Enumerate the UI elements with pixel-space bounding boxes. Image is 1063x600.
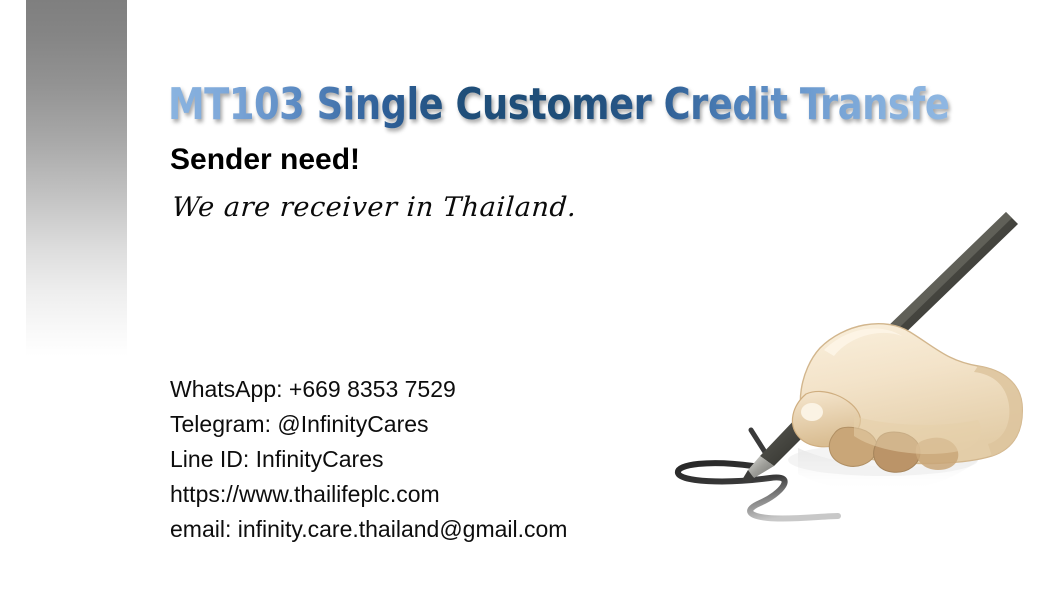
contact-line-whatsapp: WhatsApp: +669 8353 7529 [170, 372, 690, 407]
heading-sender-need: Sender need! [170, 143, 360, 177]
hand-writing-pen-illustration [648, 198, 1058, 538]
contact-line-website[interactable]: https://www.thailifeplc.com [170, 477, 690, 512]
contact-line-lineid: Line ID: InfinityCares [170, 442, 690, 477]
left-gradient-bar [26, 0, 127, 356]
contact-line-telegram: Telegram: @InfinityCares [170, 407, 690, 442]
page-title: MT103 Single Customer Credit Transfer [168, 79, 949, 131]
script-subtitle: We are receiver in Thailand. [171, 192, 578, 223]
contact-block: WhatsApp: +669 8353 7529 Telegram: @Infi… [170, 372, 690, 547]
contact-line-email[interactable]: email: infinity.care.thailand@gmail.com [170, 512, 690, 547]
slide-canvas: MT103 Single Customer Credit Transfer Se… [0, 0, 1063, 600]
